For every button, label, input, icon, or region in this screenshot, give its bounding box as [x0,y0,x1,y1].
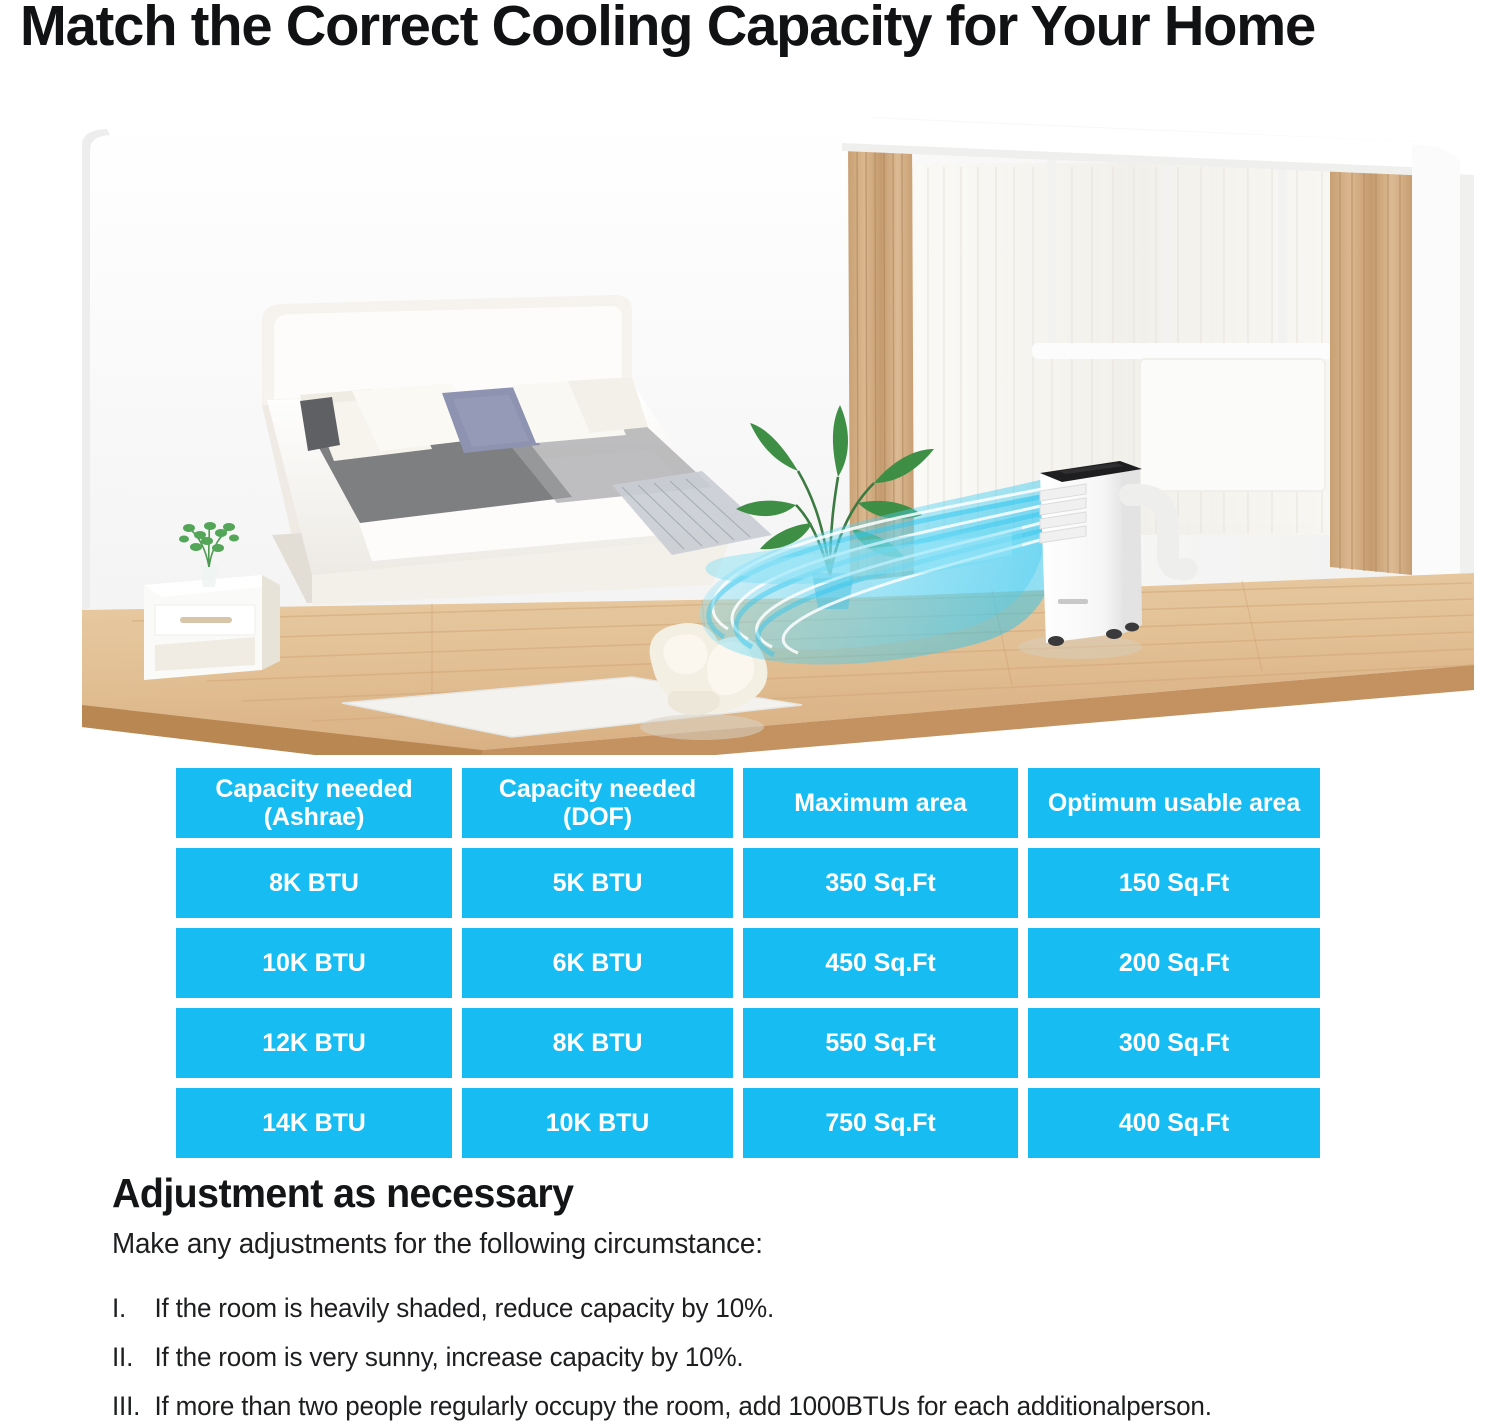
adjustment-item-text: If the room is very sunny, increase capa… [154,1342,743,1373]
curtain-right-tan [1330,163,1412,575]
adjustment-heading: Adjustment as necessary [112,1170,573,1217]
adjustment-list-item: II. If the room is very sunny, increase … [112,1342,1444,1373]
table-cell: 450 Sq.Ft [743,928,1018,998]
table-cell: 5K BTU [462,848,733,918]
table-cell: 350 Sq.Ft [743,848,1018,918]
table-header-line: Capacity needed [215,775,412,803]
table-header-cell: Optimum usable area [1028,768,1320,838]
table-cell: 750 Sq.Ft [743,1088,1018,1158]
adjustment-list: I. If the room is heavily shaded, reduce… [112,1293,1492,1427]
table-cell: 200 Sq.Ft [1028,928,1320,998]
infographic-page: Match the Correct Cooling Capacity for Y… [0,0,1500,1427]
ac-brand-mark [1058,599,1088,604]
table-cell: 6K BTU [462,928,733,998]
table-cell: 12K BTU [176,1008,452,1078]
adjustment-item-number: I. [112,1293,154,1324]
table-header-line: Capacity needed [499,775,696,803]
nightstand [144,575,280,680]
adjustment-item-number: II. [112,1342,154,1373]
adjustment-item-text: If more than two people regularly occupy… [154,1391,1211,1422]
bedroom-scene-illustration [12,105,1474,755]
table-header-cell: Capacity needed(Ashrae) [176,768,452,838]
nightstand-handle [180,617,232,623]
window-sill [1032,343,1332,359]
table-cell: 400 Sq.Ft [1028,1088,1320,1158]
radiator-panel [1140,359,1325,491]
table-cell: 8K BTU [462,1008,733,1078]
table-cell: 150 Sq.Ft [1028,848,1320,918]
table-header-line: (Ashrae) [215,803,412,831]
capacity-table: Capacity needed(Ashrae) Capacity needed(… [176,768,1320,1158]
table-cell: 10K BTU [462,1088,733,1158]
table-cell: 14K BTU [176,1088,452,1158]
bedroom-scene-svg [12,105,1474,755]
adjustment-item-text: If the room is heavily shaded, reduce ca… [154,1293,774,1324]
table-header-line: (DOF) [499,803,696,831]
page-title: Match the Correct Cooling Capacity for Y… [20,0,1468,58]
adjustment-subheading: Make any adjustments for the following c… [112,1228,763,1261]
right-wall-return [1412,145,1460,575]
table-header-cell: Maximum area [743,768,1018,838]
adjustment-item-number: III. [112,1391,154,1422]
adjustment-list-item: III. If more than two people regularly o… [112,1391,1444,1422]
table-cell: 8K BTU [176,848,452,918]
table-cell: 300 Sq.Ft [1028,1008,1320,1078]
table-header-cell: Capacity needed(DOF) [462,768,733,838]
adjustment-list-item: I. If the room is heavily shaded, reduce… [112,1293,1444,1324]
table-cell: 550 Sq.Ft [743,1008,1018,1078]
table-cell: 10K BTU [176,928,452,998]
